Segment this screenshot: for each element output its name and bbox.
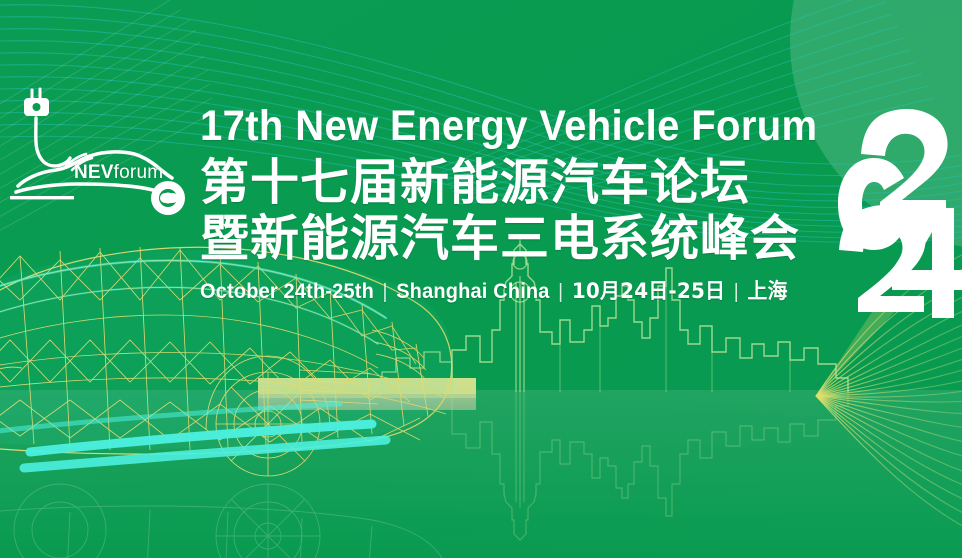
meta-separator-1: | xyxy=(374,281,396,303)
title-block: 17th New Energy Vehicle Forum 第十七届新能源汽车论… xyxy=(200,100,848,305)
chinese-title-line2: 暨新能源汽车三电系统峰会 xyxy=(200,210,848,268)
event-banner: NEVforum 17th New Energy Vehicle Forum 第… xyxy=(0,0,962,558)
nevforum-logo[interactable]: NEVforum xyxy=(8,76,193,216)
logo-brand-light: forum xyxy=(114,162,164,183)
meta-separator-3: | xyxy=(725,281,747,303)
chinese-title-line1: 第十七届新能源汽车论坛 xyxy=(200,154,848,212)
year-graphic-2024 xyxy=(836,104,962,320)
meta-separator-2: | xyxy=(550,281,572,303)
location-chinese: 上海 xyxy=(747,279,787,303)
date-chinese: 10月24日-25日 xyxy=(572,279,725,303)
electric-car-plug-icon xyxy=(8,76,193,216)
english-title: 17th New Energy Vehicle Forum xyxy=(200,100,803,152)
year-2024-numerals xyxy=(836,104,962,320)
location-english: Shanghai China xyxy=(396,280,549,303)
date-english: October 24th-25th xyxy=(200,280,374,303)
logo-wordmark: NEVforum xyxy=(74,162,163,184)
event-meta-line: October 24th-25th|Shanghai China|10月24日-… xyxy=(200,278,816,305)
logo-brand-bold: NEV xyxy=(74,162,114,183)
